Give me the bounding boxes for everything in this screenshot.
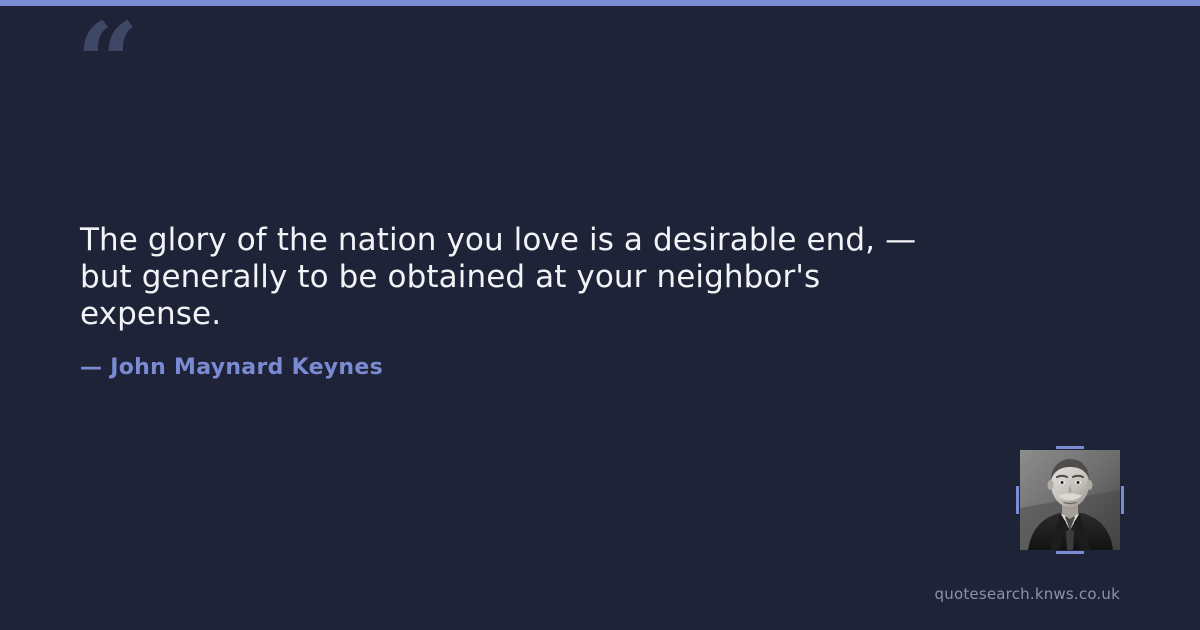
opening-quote-icon: “	[76, 8, 137, 118]
top-accent-bar	[0, 0, 1200, 6]
portrait-accent-bottom	[1056, 551, 1084, 554]
portrait-image	[1020, 450, 1120, 550]
portrait-accent-top	[1056, 446, 1084, 449]
quote-block: The glory of the nation you love is a de…	[80, 222, 980, 380]
portrait-accent-left	[1016, 486, 1019, 514]
quote-line-1: The glory of the nation you love is a de…	[80, 222, 916, 258]
source-url: quotesearch.knws.co.uk	[935, 585, 1120, 603]
quote-text: The glory of the nation you love is a de…	[80, 222, 980, 333]
portrait-accent-right	[1121, 486, 1124, 514]
quote-attribution: — John Maynard Keynes	[80, 355, 980, 380]
quote-line-3: expense.	[80, 296, 221, 332]
author-portrait	[1020, 450, 1120, 550]
quote-line-2: but generally to be obtained at your nei…	[80, 259, 820, 295]
